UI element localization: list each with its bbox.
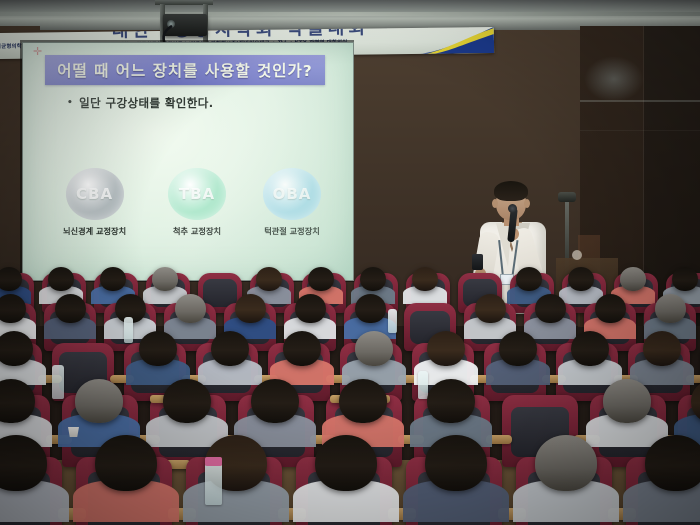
slide-corner-marker: ✛ <box>33 46 42 57</box>
audience-head <box>0 267 22 291</box>
paper-cup <box>68 427 79 437</box>
audience-head <box>256 267 282 291</box>
presenter-hair <box>494 181 528 201</box>
audience-head <box>355 331 393 366</box>
audience-head <box>152 267 178 291</box>
audience-head <box>163 379 211 423</box>
audience-head <box>235 294 266 323</box>
audience-head <box>308 267 334 291</box>
water-bottle <box>205 463 222 505</box>
diagram-item-cba: CBA 뇌신경계 교정장치 <box>63 168 126 237</box>
wall-rail <box>580 100 700 102</box>
audience-head <box>0 331 33 366</box>
circle-tba-abbr: TBA <box>179 185 215 203</box>
bullet-marker-icon: • <box>67 98 73 108</box>
slide-diagram-circles: CBA 뇌신경계 교정장치 TBA 척추 교정장치 OBA 턱관절 교정장치 <box>23 168 353 268</box>
audience-head <box>645 435 700 491</box>
audience-head <box>211 331 249 366</box>
slide-title-text: 어떨 때 어느 장치를 사용할 것인가? <box>57 59 313 81</box>
audience-head <box>499 331 537 366</box>
wall-seam-horizontal <box>580 130 700 131</box>
audience-head <box>295 294 326 323</box>
slide-bullet-text: 일단 구강상태를 확인한다. <box>79 96 213 110</box>
audience-head <box>100 267 126 291</box>
wall-light-glow <box>584 56 644 102</box>
audience-head <box>516 267 542 291</box>
audience-head <box>339 379 387 423</box>
audience-head <box>655 294 686 323</box>
audience-area <box>0 255 700 525</box>
microphone-head-icon <box>508 204 517 213</box>
lecture-hall-photo: 대한구강장치학회 학술대회 척균형의학회/(주)메디팩토리 • 후원 : CHA… <box>0 0 700 525</box>
slide-title-band: 어떨 때 어느 장치를 사용할 것인가? <box>45 55 325 85</box>
diagram-item-oba: OBA 턱관절 교정장치 <box>263 168 321 237</box>
audience-head <box>535 294 566 323</box>
banner-swoosh-graphic <box>420 27 494 54</box>
audience-head <box>315 435 377 491</box>
diagram-item-tba: TBA 척추 교정장치 <box>168 168 226 237</box>
circle-oba: OBA <box>263 168 321 220</box>
water-bottle <box>52 365 64 399</box>
mic-stand-top <box>558 192 576 202</box>
circle-cba-label: 뇌신경계 교정장치 <box>63 225 126 237</box>
audience-head <box>75 379 123 423</box>
audience-head <box>95 435 157 491</box>
circle-tba: TBA <box>168 168 226 220</box>
audience-head <box>603 379 651 423</box>
audience-head <box>595 294 626 323</box>
water-bottle <box>418 371 428 399</box>
circle-oba-abbr: OBA <box>273 185 312 203</box>
audience-head <box>283 331 321 366</box>
audience-head <box>251 379 299 423</box>
audience-head <box>672 267 698 291</box>
audience-head <box>412 267 438 291</box>
presenter-ear-left <box>492 199 498 208</box>
audience-head <box>427 379 475 423</box>
audience-head <box>427 331 465 366</box>
audience-head <box>175 294 206 323</box>
audience-head <box>425 435 487 491</box>
audience-head <box>360 267 386 291</box>
circle-oba-label: 턱관절 교정장치 <box>263 225 321 237</box>
audience-head <box>0 294 26 323</box>
bottle-cap <box>205 457 222 466</box>
circle-cba: CBA <box>66 168 124 220</box>
audience-head <box>568 267 594 291</box>
audience-head <box>571 331 609 366</box>
projection-screen: ✛ 어떨 때 어느 장치를 사용할 것인가? •일단 구강상태를 확인한다. C… <box>22 42 354 281</box>
audience-head <box>48 267 74 291</box>
circle-tba-label: 척추 교정장치 <box>168 225 226 237</box>
slide-bullet-line: •일단 구강상태를 확인한다. <box>67 95 214 111</box>
audience-head <box>620 267 646 291</box>
water-bottle <box>388 309 397 333</box>
audience-head <box>475 294 506 323</box>
audience-head <box>139 331 177 366</box>
audience-head <box>55 294 86 323</box>
presenter-ear-right <box>524 199 530 208</box>
audience-head <box>535 435 597 491</box>
audience-head <box>643 331 681 366</box>
audience-head <box>355 294 386 323</box>
water-bottle <box>124 317 133 343</box>
circle-cba-abbr: CBA <box>76 185 113 203</box>
ceiling-light-strip <box>0 12 700 16</box>
